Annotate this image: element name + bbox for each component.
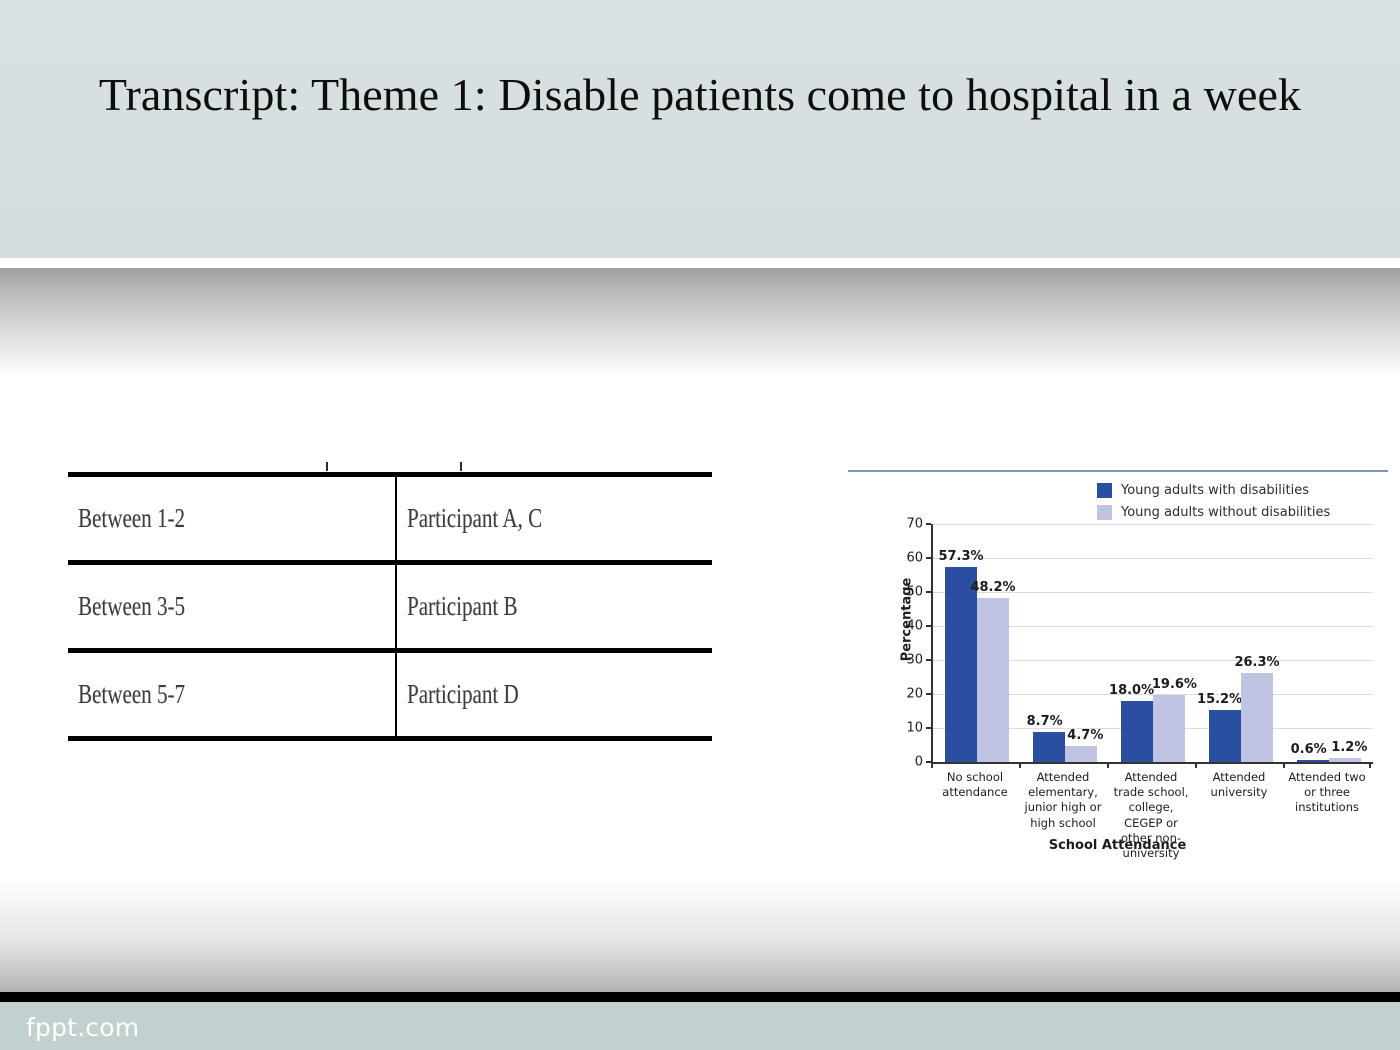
bar-group: 8.7% 4.7% — [1021, 524, 1109, 762]
table-cell-range: Between 5-7 — [68, 651, 396, 739]
bar-value-label: 19.6% — [1152, 677, 1197, 692]
legend-label: Young adults without disabilities — [1121, 505, 1330, 520]
slide: Transcript: Theme 1: Disable patients co… — [0, 0, 1400, 1050]
bar-group: 18.0% 19.6% — [1109, 524, 1197, 762]
table-cell-range: Between 3-5 — [68, 563, 396, 651]
table-cell-participants: Participant B — [396, 563, 712, 651]
table-cell-range: Between 1-2 — [68, 475, 396, 563]
bar-without-disabilities[interactable]: 26.3% — [1241, 673, 1273, 762]
participants-text: Participant D — [407, 679, 519, 710]
header-band — [0, 0, 1400, 258]
legend-swatch-icon — [1097, 505, 1112, 520]
y-axis-ticks: 70 60 50 40 30 20 10 0 — [891, 524, 931, 762]
bar-groups: 57.3% 48.2% 8.7% 4.7% — [933, 524, 1373, 762]
range-text: Between 3-5 — [78, 591, 185, 622]
bar-value-label: 57.3% — [938, 549, 983, 564]
y-tick-label: 60 — [906, 551, 923, 566]
y-tick-label: 10 — [906, 721, 923, 736]
bar-group: 57.3% 48.2% — [933, 524, 1021, 762]
school-attendance-chart: Young adults with disabilities Young adu… — [845, 466, 1390, 861]
table-row: Between 1-2 Participant A, C — [68, 475, 712, 563]
table-row: Between 5-7 Participant D — [68, 651, 712, 739]
x-axis-ticks — [931, 762, 1371, 768]
table-row: Between 3-5 Participant B — [68, 563, 712, 651]
range-text: Between 1-2 — [78, 503, 185, 534]
legend-item: Young adults without disabilities — [1097, 502, 1387, 522]
x-tick-mark — [1019, 762, 1021, 768]
footer-logo: fppt.com — [26, 1013, 139, 1042]
y-tick-label: 70 — [906, 517, 923, 532]
header-underline — [0, 258, 1400, 268]
table-tick-icon — [326, 462, 328, 471]
y-tick-label: 30 — [906, 653, 923, 668]
bar-value-label: 8.7% — [1027, 714, 1063, 729]
table-cell-participants: Participant A, C — [396, 475, 712, 563]
chart-bars-canvas: 57.3% 48.2% 8.7% 4.7% — [931, 524, 1373, 764]
participants-text: Participant A, C — [407, 503, 542, 534]
table-tick-marks — [68, 462, 690, 472]
x-tick-mark — [931, 762, 933, 768]
bar-value-label: 4.7% — [1067, 728, 1103, 743]
footer-shadow-gradient — [0, 877, 1400, 992]
legend-swatch-icon — [1097, 483, 1112, 498]
bar-value-label: 48.2% — [970, 580, 1015, 595]
legend-label: Young adults with disabilities — [1121, 483, 1309, 498]
participants-text: Participant B — [407, 591, 518, 622]
page-title: Transcript: Theme 1: Disable patients co… — [70, 62, 1330, 127]
participants-table: Between 1-2 Participant A, C Between 3-5… — [68, 472, 712, 741]
bar-value-label: 0.6% — [1291, 742, 1327, 757]
table-tick-icon — [460, 462, 462, 471]
header-shadow-gradient — [0, 268, 1400, 378]
bar-without-disabilities[interactable]: 4.7% — [1065, 746, 1097, 762]
y-tick-label: 20 — [906, 687, 923, 702]
bar-without-disabilities[interactable]: 19.6% — [1153, 695, 1185, 762]
x-tick-mark — [1283, 762, 1285, 768]
y-tick-label: 50 — [906, 585, 923, 600]
bar-value-label: 18.0% — [1109, 683, 1154, 698]
bar-with-disabilities[interactable]: 8.7% — [1033, 732, 1065, 762]
y-tick-label: 40 — [906, 619, 923, 634]
table-cell-participants: Participant D — [396, 651, 712, 739]
bar-without-disabilities[interactable]: 48.2% — [977, 598, 1009, 762]
bar-with-disabilities[interactable]: 57.3% — [945, 567, 977, 762]
participants-table-wrapper: Between 1-2 Participant A, C Between 3-5… — [68, 472, 690, 741]
x-tick-mark — [1369, 762, 1371, 768]
footer-band — [0, 1002, 1400, 1050]
range-text: Between 5-7 — [78, 679, 185, 710]
chart-top-rule — [848, 470, 1388, 472]
bar-group: 15.2% 26.3% — [1197, 524, 1285, 762]
bar-value-label: 26.3% — [1234, 655, 1279, 670]
bar-value-label: 15.2% — [1197, 692, 1242, 707]
y-tick-label: 0 — [915, 755, 923, 770]
bar-group: 0.6% 1.2% — [1285, 524, 1373, 762]
x-axis-title: School Attendance — [845, 838, 1390, 853]
legend-item: Young adults with disabilities — [1097, 480, 1387, 500]
x-tick-mark — [1107, 762, 1109, 768]
bar-with-disabilities[interactable]: 15.2% — [1209, 710, 1241, 762]
x-tick-mark — [1195, 762, 1197, 768]
chart-legend: Young adults with disabilities Young adu… — [1097, 480, 1387, 524]
footer-black-bar — [0, 992, 1400, 1002]
bar-value-label: 1.2% — [1331, 740, 1367, 755]
bar-with-disabilities[interactable]: 18.0% — [1121, 701, 1153, 762]
chart-plot-area: Percentage 70 60 50 40 30 20 10 0 — [869, 524, 1379, 769]
